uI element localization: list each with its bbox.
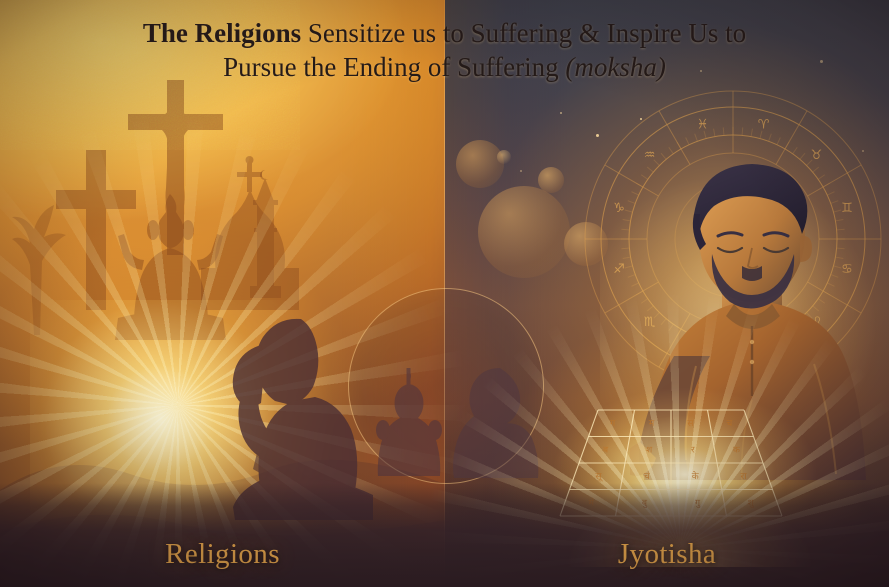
- title-emphasis: (moksha): [565, 52, 665, 82]
- poster-title: The Religions Sensitize us to Suffering …: [0, 16, 889, 84]
- title-line-2-rest: Pursue the Ending of Suffering: [223, 52, 558, 82]
- title-strong: The Religions: [143, 18, 301, 48]
- astrologer-figure: [630, 150, 880, 480]
- title-line-1-rest: Sensitize us to Suffering & Inspire Us t…: [308, 18, 746, 48]
- center-circle: [348, 288, 544, 484]
- title-line-2: Pursue the Ending of Suffering (moksha): [28, 50, 861, 84]
- caption-jyotisha: Jyotisha: [445, 538, 889, 571]
- caption-religions: Religions: [0, 538, 445, 571]
- religions-panel-background: [0, 0, 445, 587]
- panel-divider: [444, 0, 445, 587]
- poster-image: ♈♉♊♋♌♍♎♏♐♑♒♓: [0, 0, 889, 587]
- title-line-1: The Religions Sensitize us to Suffering …: [28, 16, 861, 50]
